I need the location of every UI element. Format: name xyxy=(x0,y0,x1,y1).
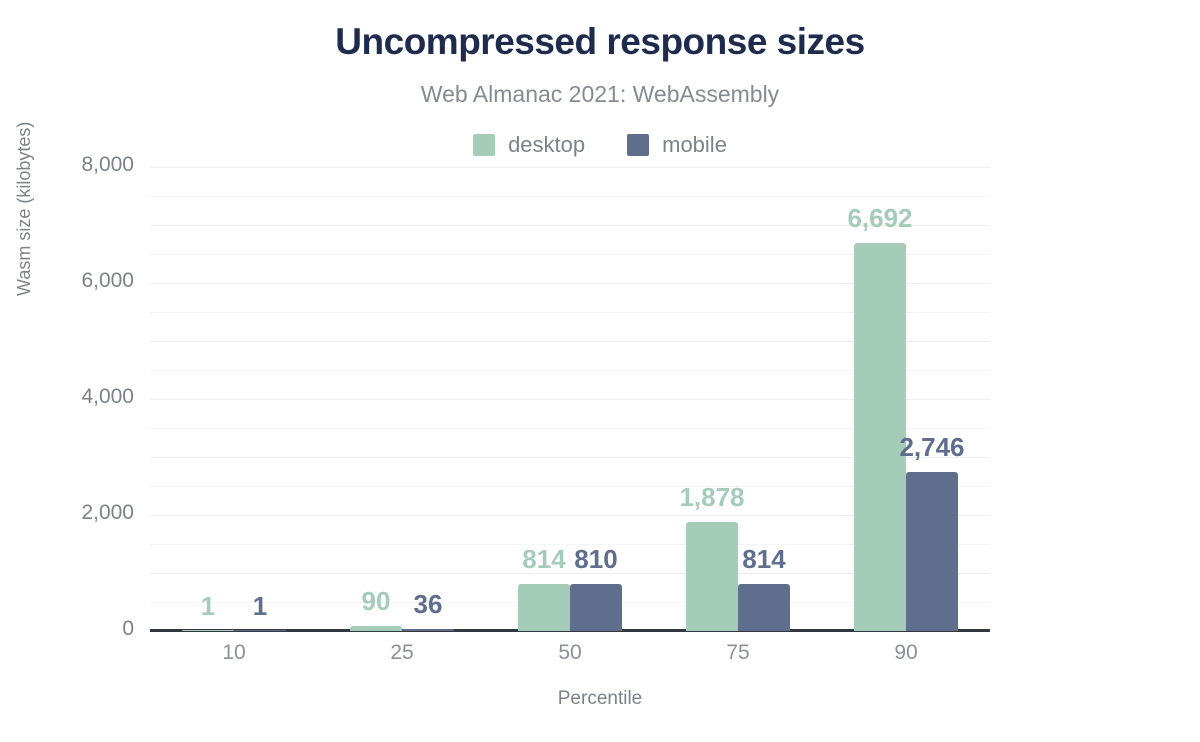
chart-container: Uncompressed response sizes Web Almanac … xyxy=(0,0,1200,742)
legend-label-mobile: mobile xyxy=(662,134,727,156)
bar-mobile-p75[interactable] xyxy=(738,584,790,631)
legend-item-mobile[interactable]: mobile xyxy=(627,134,727,156)
chart-title: Uncompressed response sizes xyxy=(0,22,1200,63)
bar-desktop-p75[interactable] xyxy=(686,522,738,631)
bar-mobile-p90[interactable] xyxy=(906,472,958,631)
chart-legend: desktop mobile xyxy=(0,134,1200,156)
bar-value-label-mobile-p25: 36 xyxy=(368,589,488,620)
legend-swatch-desktop xyxy=(473,134,495,156)
bar-value-label-mobile-p50: 810 xyxy=(536,544,656,575)
gridline xyxy=(150,167,990,168)
y-axis-tick-label: 6,000 xyxy=(81,269,134,293)
x-axis-title: Percentile xyxy=(0,688,1200,710)
x-axis-tick-label: 75 xyxy=(678,641,798,665)
x-axis-tick-label: 10 xyxy=(174,641,294,665)
bar-desktop-p25[interactable] xyxy=(350,626,402,631)
legend-swatch-mobile xyxy=(627,134,649,156)
legend-item-desktop[interactable]: desktop xyxy=(473,134,585,156)
bar-desktop-p50[interactable] xyxy=(518,584,570,631)
bar-value-label-desktop-p90: 6,692 xyxy=(820,203,940,234)
legend-label-desktop: desktop xyxy=(508,134,585,156)
bar-value-label-mobile-p10: 1 xyxy=(200,591,320,622)
y-axis-tick-label: 2,000 xyxy=(81,501,134,525)
bar-mobile-p10[interactable] xyxy=(234,630,286,631)
x-axis-tick-label: 50 xyxy=(510,641,630,665)
y-axis-tick-label: 4,000 xyxy=(81,385,134,409)
gridline xyxy=(150,196,990,197)
y-axis-tick-label: 0 xyxy=(122,617,134,641)
x-axis-tick-label: 25 xyxy=(342,641,462,665)
bar-value-label-mobile-p75: 814 xyxy=(704,544,824,575)
bar-mobile-p25[interactable] xyxy=(402,629,454,631)
y-axis-tick-label: 8,000 xyxy=(81,153,134,177)
x-axis-tick-label: 90 xyxy=(846,641,966,665)
bar-mobile-p50[interactable] xyxy=(570,584,622,631)
y-axis-title: Wasm size (kilobytes) xyxy=(14,122,35,296)
bar-value-label-desktop-p75: 1,878 xyxy=(652,482,772,513)
chart-subtitle: Web Almanac 2021: WebAssembly xyxy=(0,82,1200,107)
bar-desktop-p10[interactable] xyxy=(182,630,234,631)
bar-value-label-mobile-p90: 2,746 xyxy=(872,432,992,463)
